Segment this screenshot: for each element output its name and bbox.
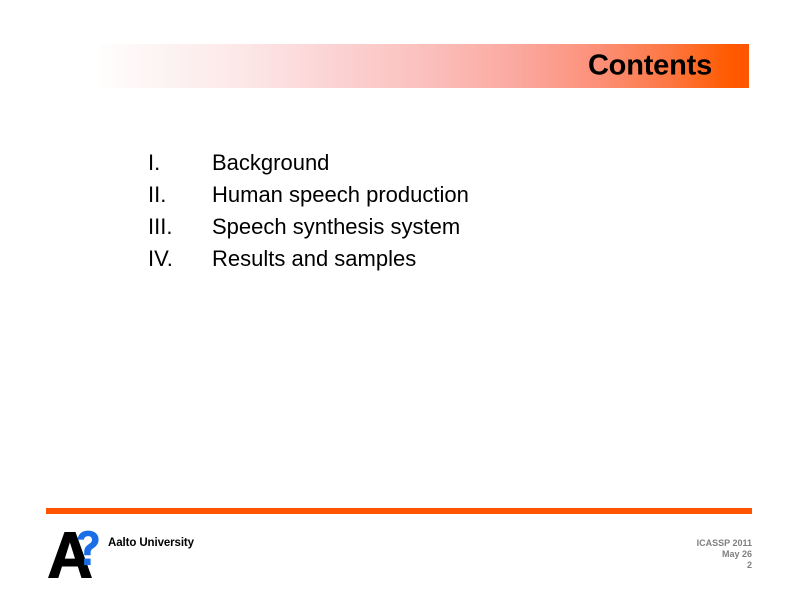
list-item-label: Speech synthesis system	[212, 211, 460, 243]
presentation-date: May 26	[697, 549, 752, 560]
footer-logo-block: Aalto University	[46, 530, 194, 580]
list-item: IV. Results and samples	[148, 243, 748, 275]
list-item: III. Speech synthesis system	[148, 211, 748, 243]
list-item-label: Background	[212, 147, 329, 179]
slide-canvas: Contents I. Background II. Human speech …	[0, 0, 800, 599]
page-title: Contents	[588, 52, 712, 81]
list-item-numeral: IV.	[148, 243, 212, 275]
title-band: Contents	[100, 44, 749, 88]
list-item-numeral: II.	[148, 179, 212, 211]
footer-meta: ICASSP 2011 May 26 2	[697, 538, 752, 571]
slide-number: 2	[697, 560, 752, 571]
conference-name: ICASSP 2011	[697, 538, 752, 549]
contents-list: I. Background II. Human speech productio…	[148, 147, 748, 275]
list-item-numeral: I.	[148, 147, 212, 179]
aalto-logo-icon	[46, 530, 102, 580]
list-item-label: Human speech production	[212, 179, 469, 211]
list-item: II. Human speech production	[148, 179, 748, 211]
footer-divider	[46, 508, 752, 514]
organization-name: Aalto University	[108, 537, 194, 549]
list-item-label: Results and samples	[212, 243, 416, 275]
list-item: I. Background	[148, 147, 748, 179]
list-item-numeral: III.	[148, 211, 212, 243]
